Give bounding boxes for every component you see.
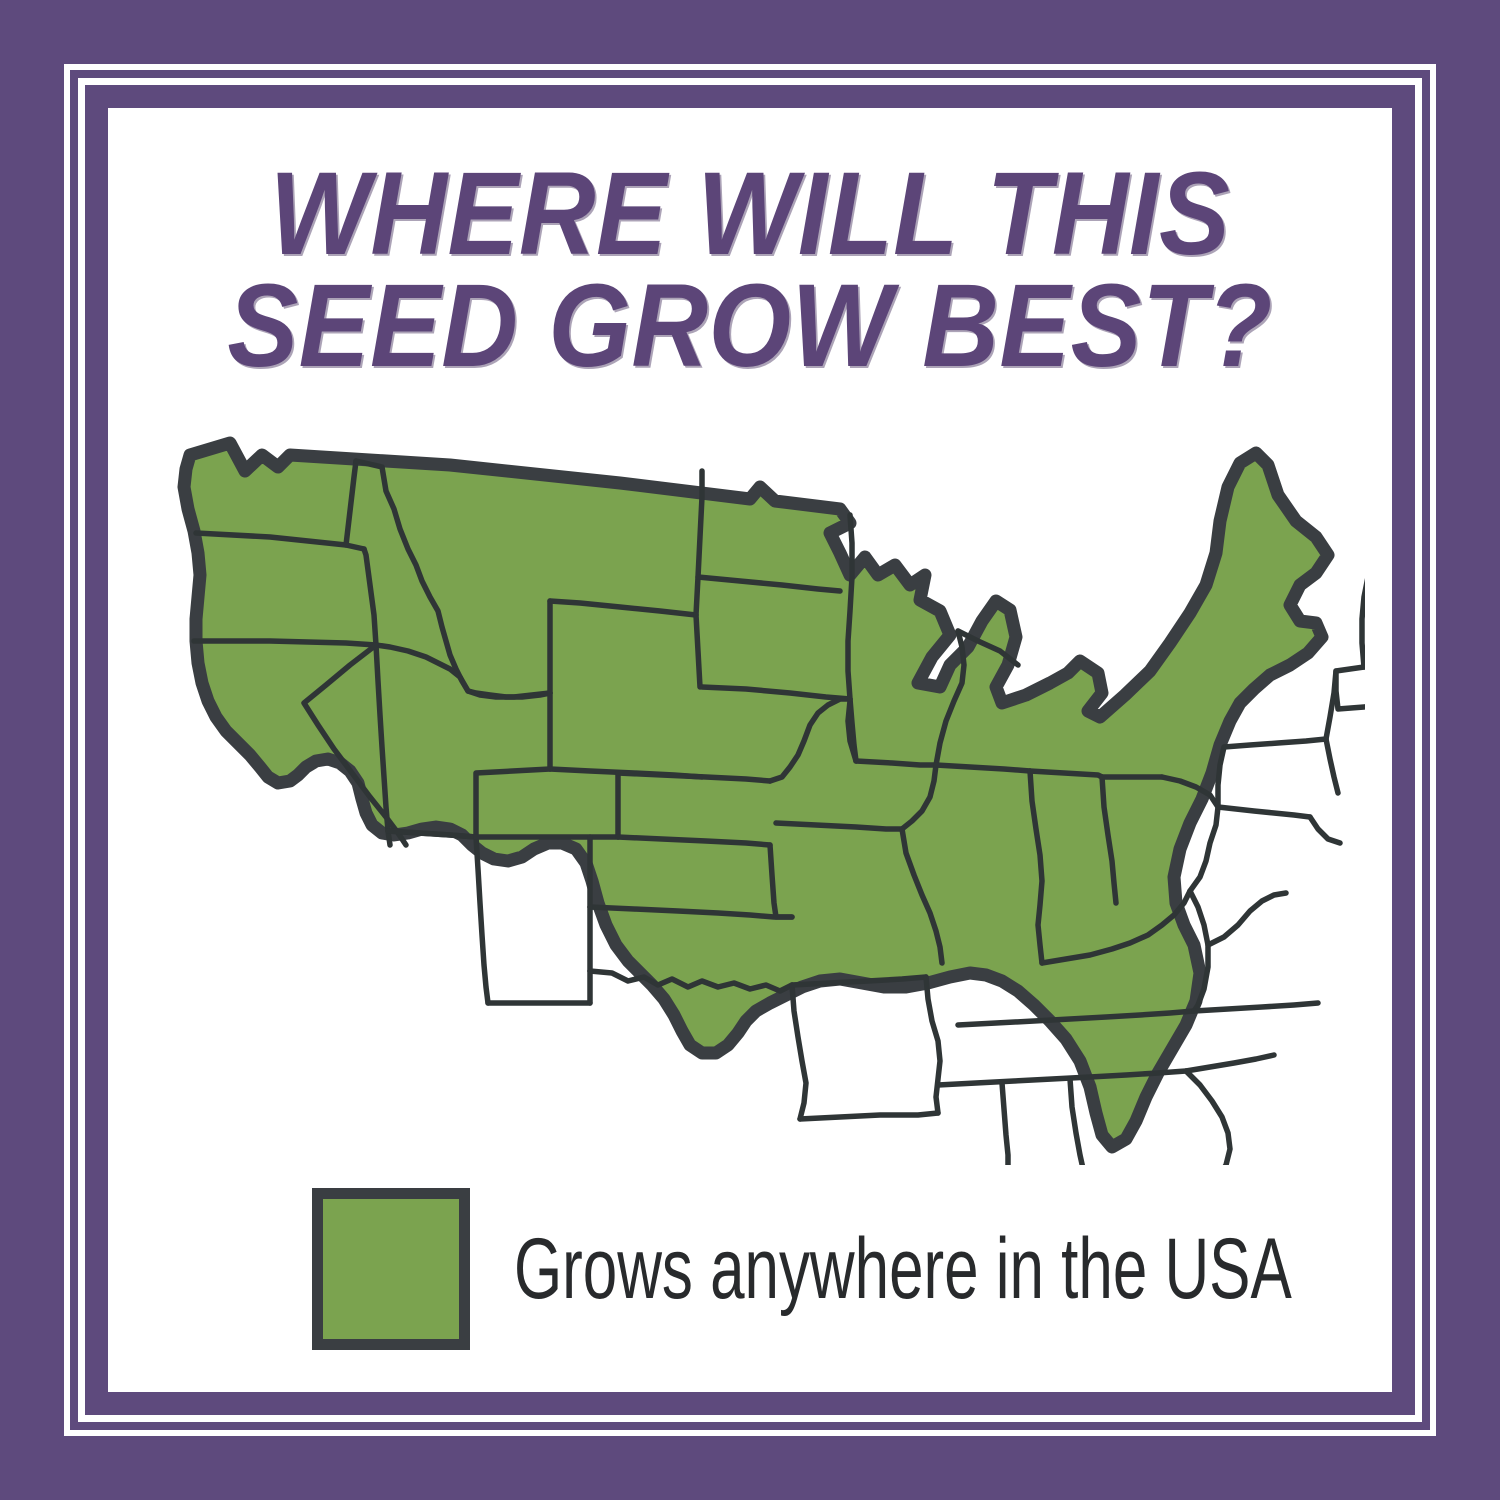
poster-canvas: WHERE WILL THIS SEED GROW BEST?	[0, 0, 1500, 1500]
legend-label: Grows anywhere in the USA	[514, 1226, 1292, 1312]
map-layer	[184, 443, 1365, 1165]
legend-color-swatch	[312, 1188, 470, 1350]
usa-map	[150, 425, 1365, 1165]
title-line-2: SEED GROW BEST?	[172, 270, 1328, 382]
map-legend: Grows anywhere in the USA	[312, 1188, 1500, 1350]
page-title: WHERE WILL THIS SEED GROW BEST?	[108, 158, 1392, 382]
usa-map-svg	[150, 425, 1365, 1165]
title-line-1: WHERE WILL THIS	[172, 158, 1328, 270]
